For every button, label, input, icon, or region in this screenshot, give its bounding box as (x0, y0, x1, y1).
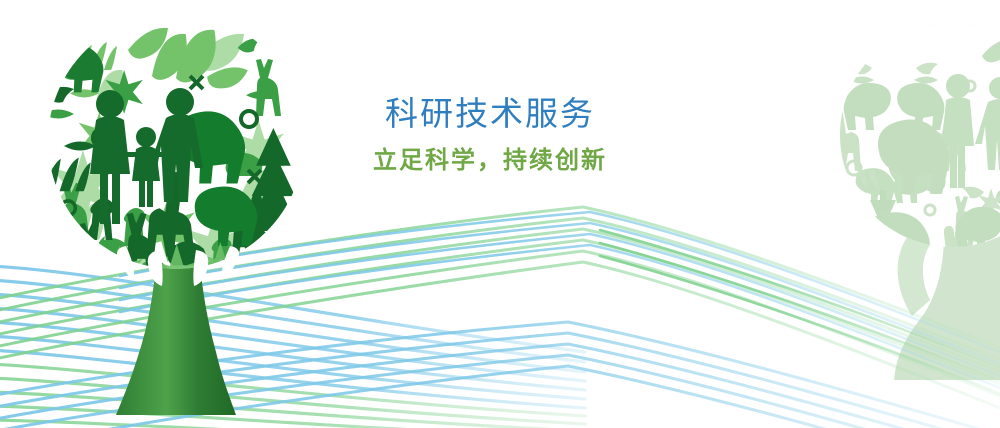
hero-banner: 科研技术服务 立足科学，持续创新 (0, 0, 1000, 428)
banner-text-layer: 科研技术服务 立足科学，持续创新 (0, 0, 1000, 428)
headline-block: 科研技术服务 立足科学，持续创新 (330, 95, 650, 176)
page-title: 科研技术服务 (330, 95, 650, 133)
page-subtitle: 立足科学，持续创新 (330, 147, 650, 176)
